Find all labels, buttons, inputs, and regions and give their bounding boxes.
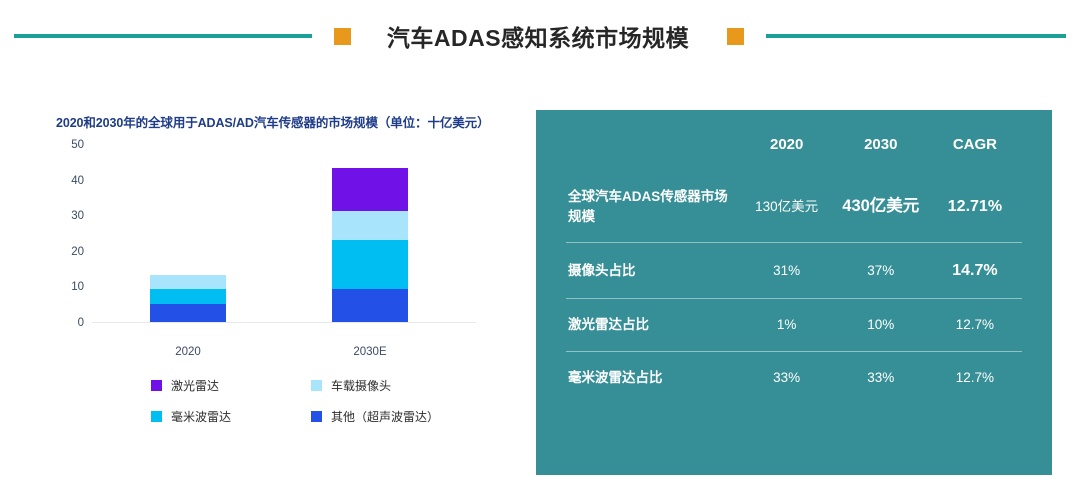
legend-item-毫米波雷达[interactable]: 毫米波雷达 bbox=[151, 408, 311, 425]
y-tick-0: 0 bbox=[78, 317, 84, 329]
page-title: 汽车ADAS感知系统市场规模 bbox=[387, 19, 689, 53]
summary-table-body: 全球汽车ADAS传感器市场规模130亿美元430亿美元12.71%摄像头占比31… bbox=[566, 171, 1022, 403]
bar-segment-车载摄像头 bbox=[150, 275, 226, 289]
bar-segment-其他（超声波雷达） bbox=[150, 304, 226, 322]
cell-2030: 10% bbox=[834, 299, 928, 352]
bar-2020[interactable] bbox=[150, 275, 226, 321]
table-row: 毫米波雷达占比33%33%12.7% bbox=[566, 351, 1022, 403]
row-label: 全球汽车ADAS传感器市场规模 bbox=[566, 171, 740, 243]
summary-table-head: 2020 2030 CAGR bbox=[566, 136, 1022, 171]
row-label: 毫米波雷达占比 bbox=[566, 351, 740, 403]
table-row: 全球汽车ADAS传感器市场规模130亿美元430亿美元12.71% bbox=[566, 171, 1022, 243]
cell-2030: 37% bbox=[834, 243, 928, 299]
chart-plot: 01020304050 bbox=[46, 145, 476, 341]
cell-2020: 33% bbox=[740, 351, 834, 403]
cell-2020: 130亿美元 bbox=[740, 171, 834, 243]
cell-cagr: 12.71% bbox=[928, 171, 1022, 243]
table-header-row: 2020 2030 CAGR bbox=[566, 136, 1022, 171]
legend-label: 毫米波雷达 bbox=[171, 408, 231, 425]
cell-2030: 33% bbox=[834, 351, 928, 403]
header-rule-left bbox=[14, 34, 312, 38]
bar-segment-其他（超声波雷达） bbox=[332, 289, 408, 321]
cell-cagr: 14.7% bbox=[928, 243, 1022, 299]
y-tick-20: 20 bbox=[71, 246, 84, 258]
x-label-2020: 2020 bbox=[175, 346, 201, 358]
cell-2020: 1% bbox=[740, 299, 834, 352]
legend-swatch-icon bbox=[151, 380, 162, 391]
summary-table-panel: 2020 2030 CAGR 全球汽车ADAS传感器市场规模130亿美元430亿… bbox=[536, 110, 1052, 475]
legend-label: 车载摄像头 bbox=[331, 377, 391, 394]
col-header-2020: 2020 bbox=[740, 136, 834, 171]
legend-item-其他（超声波雷达）[interactable]: 其他（超声波雷达） bbox=[311, 408, 471, 425]
chart-plot-area bbox=[92, 145, 476, 323]
legend-label: 其他（超声波雷达） bbox=[331, 408, 439, 425]
chart-y-axis: 01020304050 bbox=[46, 145, 84, 323]
table-row: 摄像头占比31%37%14.7% bbox=[566, 243, 1022, 299]
y-tick-40: 40 bbox=[71, 175, 84, 187]
chart-baseline bbox=[92, 322, 476, 324]
cell-2020: 31% bbox=[740, 243, 834, 299]
chart-x-axis: 20202030E bbox=[92, 341, 522, 363]
col-header-2030: 2030 bbox=[834, 136, 928, 171]
legend-swatch-icon bbox=[151, 411, 162, 422]
bar-segment-毫米波雷达 bbox=[332, 240, 408, 290]
slide-header: 汽车ADAS感知系统市场规模 bbox=[0, 0, 1080, 72]
y-tick-10: 10 bbox=[71, 281, 84, 293]
x-label-2030E: 2030E bbox=[353, 346, 386, 358]
bar-segment-激光雷达 bbox=[332, 168, 408, 211]
header-square-right-icon bbox=[727, 28, 744, 45]
legend-swatch-icon bbox=[311, 411, 322, 422]
y-tick-50: 50 bbox=[71, 139, 84, 151]
summary-table: 2020 2030 CAGR 全球汽车ADAS传感器市场规模130亿美元430亿… bbox=[566, 136, 1022, 403]
legend-item-车载摄像头[interactable]: 车载摄像头 bbox=[311, 377, 471, 394]
header-rule-right bbox=[766, 34, 1066, 38]
legend-item-激光雷达[interactable]: 激光雷达 bbox=[151, 377, 311, 394]
y-tick-30: 30 bbox=[71, 210, 84, 222]
table-row: 激光雷达占比1%10%12.7% bbox=[566, 299, 1022, 352]
cell-cagr: 12.7% bbox=[928, 299, 1022, 352]
chart-title: 2020和2030年的全球用于ADAS/AD汽车传感器的市场规模（单位：十亿美元… bbox=[56, 112, 516, 131]
row-label: 摄像头占比 bbox=[566, 243, 740, 299]
legend-swatch-icon bbox=[311, 380, 322, 391]
col-header-label bbox=[566, 136, 740, 171]
cell-cagr: 12.7% bbox=[928, 351, 1022, 403]
header-square-left-icon bbox=[334, 28, 351, 45]
col-header-cagr: CAGR bbox=[928, 136, 1022, 171]
chart-panel: 2020和2030年的全球用于ADAS/AD汽车传感器的市场规模（单位：十亿美元… bbox=[36, 112, 516, 452]
bar-2030E[interactable] bbox=[332, 168, 408, 321]
bar-segment-车载摄像头 bbox=[332, 211, 408, 239]
row-label: 激光雷达占比 bbox=[566, 299, 740, 352]
bar-segment-毫米波雷达 bbox=[150, 289, 226, 303]
legend-label: 激光雷达 bbox=[171, 377, 219, 394]
slide-root: 汽车ADAS感知系统市场规模 2020和2030年的全球用于ADAS/AD汽车传… bbox=[0, 0, 1080, 492]
cell-2030: 430亿美元 bbox=[834, 171, 928, 243]
chart-legend: 激光雷达车载摄像头毫米波雷达其他（超声波雷达） bbox=[151, 377, 516, 425]
